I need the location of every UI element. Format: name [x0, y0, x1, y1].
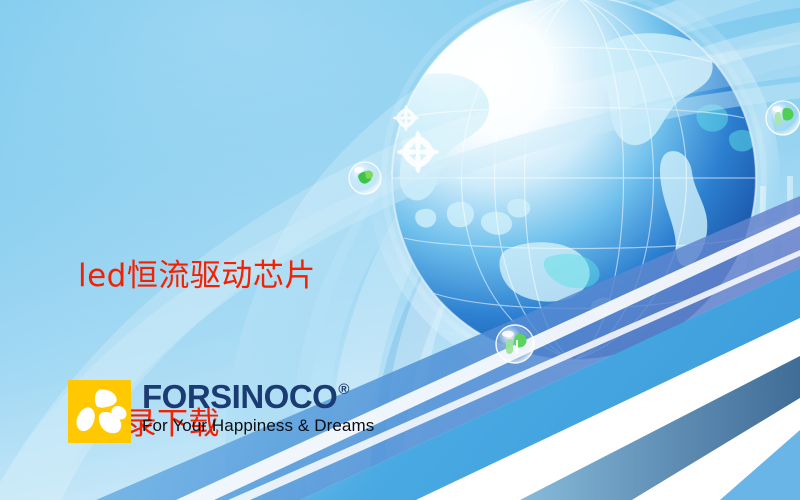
headline-line-1: led恒流驱动芯片 [78, 253, 316, 300]
sparkle-starburst-icon [393, 105, 419, 131]
bubble-tree-icon [766, 101, 800, 135]
brand-name: FORSINOCO® [142, 380, 374, 414]
company-logo: FORSINOCO® For Your Happiness & Dreams [68, 380, 374, 443]
registered-trademark-icon: ® [338, 382, 349, 397]
brand-tagline: For Your Happiness & Dreams [142, 416, 374, 436]
four-petal-flower-icon [68, 380, 131, 443]
bubble-globe-icon [349, 162, 381, 194]
bubble-tree-icon [496, 325, 534, 363]
city-skyline-silhouette [604, 176, 800, 344]
earth-globe-illustration [340, 0, 780, 384]
headline-text: led恒流驱动芯片 目录下载 [78, 160, 316, 500]
logo-wordmark: FORSINOCO® For Your Happiness & Dreams [142, 380, 374, 436]
brand-name-text: FORSINOCO [142, 380, 337, 414]
sparkle-starburst-icon [397, 131, 439, 173]
poster-canvas: led恒流驱动芯片 目录下载 FORSINOCO® For Your Happi… [0, 0, 800, 500]
light-streaks [560, 200, 800, 344]
